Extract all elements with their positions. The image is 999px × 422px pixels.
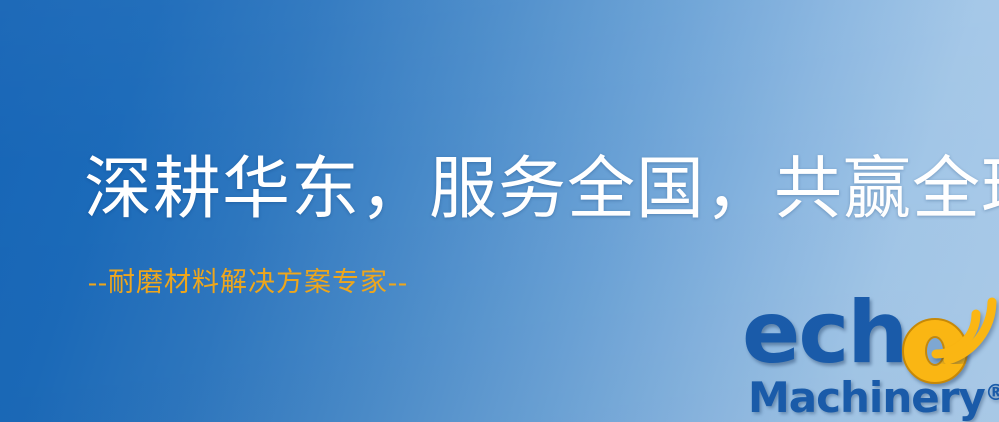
echo-signal-waves-icon	[928, 292, 999, 364]
banner-subtitle: --耐磨材料解决方案专家--	[88, 266, 408, 298]
hero-banner: 深耕华东，服务全国，共赢全球 --耐磨材料解决方案专家-- ech Machin…	[0, 0, 999, 422]
echo-machinery-logo[interactable]: ech Machinery®	[742, 296, 999, 422]
logo-wordmark-ech: ech	[742, 290, 907, 376]
banner-headline: 深耕华东，服务全国，共赢全球	[84, 150, 999, 228]
logo-tagline-text: Machinery	[748, 373, 985, 422]
registered-trademark-icon: ®	[985, 381, 999, 406]
logo-tagline: Machinery®	[748, 372, 999, 420]
